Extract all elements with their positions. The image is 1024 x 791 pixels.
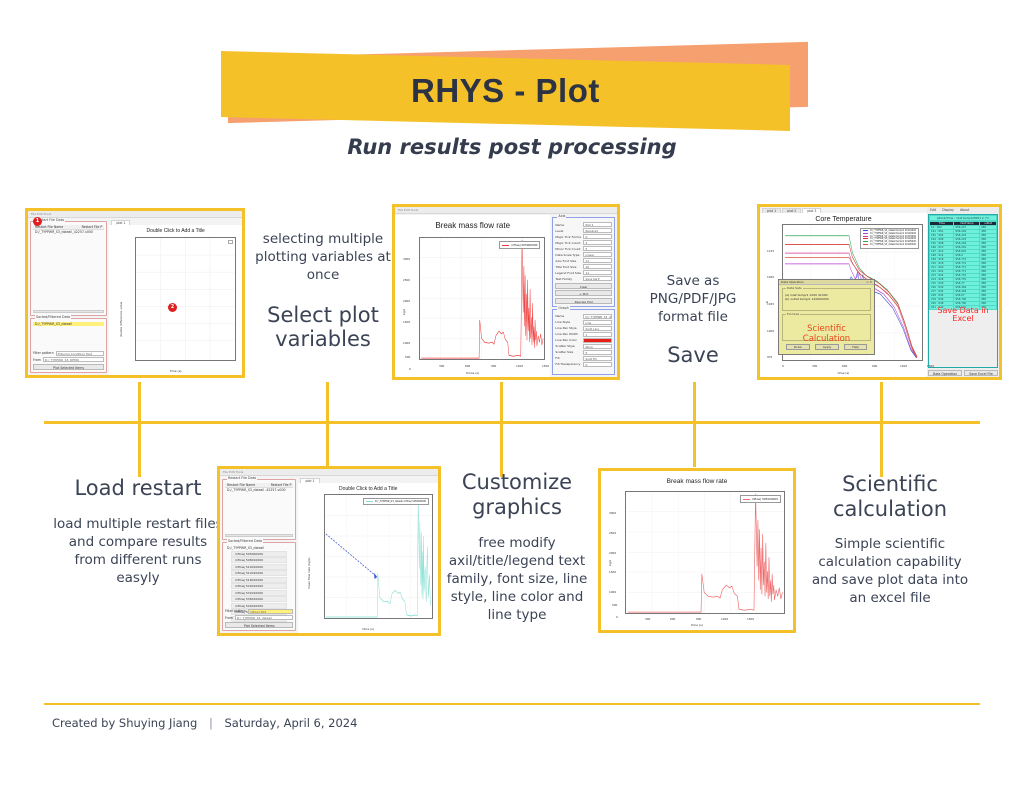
graph-group-label: Graph [557,306,569,310]
setting-row: NameD:/_TYPPWR_S3_dsteall [555,314,612,319]
axis-settings-rows: NamePlot 1LevelRequiredMajor Tick Format… [555,222,612,281]
from-label: From [225,616,233,620]
plot-title[interactable]: Double Click to Add a Title [109,228,242,234]
timeline-axis [44,421,980,424]
setting-label: Text Family [555,277,581,281]
legend-label: D:/_TYPPWR_S3_dsteall temp/1 20106000 [870,243,916,246]
setting-label: Major Tick Count [555,241,581,245]
tab-plot-3[interactable]: plot 3 [802,208,821,213]
setting-value[interactable]: Required [583,228,612,233]
feature-scientific-text: Scientific calculation Simple scientific… [805,472,975,607]
feature-select-vars-body: selecting multiple plotting variables at… [248,230,398,285]
save-data-excel-text: Save Data in Excel [937,306,988,323]
setting-row: Legend Font Size11 [555,270,612,275]
timeline-connector-1 [138,382,141,477]
selected-restart-row[interactable]: D:/_TYPPWR_S3_dsteall [33,322,104,326]
timeline-connector-2 [326,382,329,467]
feature-save-text: Save as PNG/PDF/JPG format file Save [628,272,758,367]
xtick-1500: 1500 [542,364,549,368]
timeline-connector-4 [693,382,696,467]
setting-value[interactable]: 11 [583,270,612,275]
dialog-data-sets-label: Data Sets [786,286,803,290]
axis-settings-group: Axis NamePlot 1LevelRequiredMajor Tick F… [552,217,615,307]
setting-row: Line Pen Width1 [555,332,612,337]
data-table[interactable]: Timeinlet tempoutlet10 : 600956.22798516… [929,221,997,310]
legend-color-swatch [863,236,868,237]
ytick-0: 0 [616,615,618,619]
restart-tree-row[interactable]: D:/_TYPPWR_S3_dsteall -42257-v000 [225,488,293,492]
plot-pane: Break mass flow rate mflowj 505000000 30… [601,471,793,630]
plot-gridlines [136,238,235,360]
plot-tabstrip[interactable]: plot 1 plot 2 plot 3 [760,207,927,213]
ytick-500: 500 [405,355,410,359]
setting-row: LevelRequired [555,228,612,233]
title-banner: RHYS - Plot [221,51,790,131]
restart-tree-pane: Restart File Data Restart File Name Rest… [28,219,109,375]
col-restart-file-path: Restart File P [80,225,105,229]
plot-ylabel: double difference value [119,302,123,337]
filter-pattern-row: Filter pattern mflowj 505 [225,609,293,614]
footer: Created by Shuying Jiang | Saturday, Apr… [52,716,357,730]
scientific-calculation-callout: Scientific Calculation [785,319,868,349]
plot-axes: mflowj 505000000 [625,491,785,614]
feature-select-vars-heading: Select plot variables [248,303,398,353]
xtick-300: 300 [439,364,444,368]
list-item[interactable]: mflowj 532010000 [231,590,287,596]
feature-select-vars-text: selecting multiple plotting variables at… [248,230,398,352]
xtick-900: 900 [696,617,701,621]
ytick-2500: 2500 [403,278,410,282]
feature-scientific-heading: Scientific calculation [805,472,975,522]
setting-value[interactable]: 5 [583,350,612,355]
plot-legend[interactable]: mflowj 505000000 [499,241,540,249]
feature-customize-heading: Customize graphics [437,470,597,520]
step-badge-1: 1 [33,217,42,226]
plot-legend[interactable]: mflowj 505000000 [740,495,781,503]
sorted-filtered-label: Sorted/Filtered Data [35,315,71,319]
menu-edit[interactable]: Edit [930,208,936,212]
window-body: Break mass flow rate mflowj 505000000 [395,215,617,377]
setting-label: Line Pen Style [555,326,581,330]
setting-label: Title Font Size [555,265,581,269]
screenshot-select-plot-variables[interactable]: File Edit Tools Restart File Data Restar… [217,466,441,636]
settings-pane: Axis NamePlot 1LevelRequiredMajor Tick F… [550,215,617,377]
xtick-600: 600 [465,364,470,368]
axis-settings-buttons: Clear+ PlotRescale Plot [555,283,612,304]
feature-load-restart-heading: Load restart [52,476,224,501]
table-menubar[interactable]: Edit Display About [927,207,999,213]
setting-value[interactable]: 1 [583,332,612,337]
ytick-1000: 1000 [767,329,774,333]
screenshot-save[interactable]: Break mass flow rate mflowj 505000000 30… [598,468,796,633]
xtick-600: 600 [670,617,675,621]
window-menubar[interactable]: File Edit Tools [220,469,438,476]
setting-label: Scatter Size [555,350,581,354]
dialog-data-sets-group: Data Sets (a) inlet temp/1 1200 41000 (b… [782,288,871,311]
plot-axes: mflowj 505000000 [419,237,545,360]
setting-value[interactable]: 16 [583,264,612,269]
list-item[interactable]: mflowj 520010000 [231,583,287,589]
feature-save-body: Save as PNG/PDF/JPG format file [628,272,758,327]
dialog-titlebar[interactable]: Data Operation ▫ ✕ [779,280,874,285]
feature-load-restart-body: load multiple restart files and compare … [52,515,224,588]
xtick-0: 0 [782,364,784,368]
ytick-1500: 1500 [609,570,616,574]
setting-value[interactable]: Solid Line [583,326,612,331]
window-body: Restart File Data Restart File Name Rest… [28,219,242,375]
legend-entries: D:/_TYPPWR_S3_dsteall temp/1 20101000D:/… [863,230,916,247]
dialog-formula-group: Formula Scientific Calculation [782,314,871,341]
title-area: RHYS - Plot Run results post processing [0,0,1024,185]
setting-row: Title Font Size16 [555,264,612,269]
plot-xlabel: time (s) [109,369,242,373]
footer-separator: | [209,716,213,730]
feature-save-heading: Save [628,343,758,368]
setting-row: Fill Transparency0 [555,362,612,367]
restart-file-data-group: Restart File Data Restart File Name Rest… [30,221,107,316]
sorted-filtered-data-group: Sorted/Filtered Data D:/_TYPPWR_S3_dstea… [222,542,296,631]
setting-row: Line StyleLine [555,320,612,325]
setting-row: Scatter Size5 [555,350,612,355]
page-title: RHYS - Plot [411,72,600,110]
legend-color-swatch [502,245,509,246]
setting-label: Line Style [555,320,581,324]
restart-hscrollbar[interactable] [225,534,293,537]
data-operation-dialog[interactable]: Data Operation ▫ ✕ Data Sets (a) inlet t… [778,279,875,355]
setting-label: Axis Font Size [555,259,581,263]
restart-hscrollbar[interactable] [33,310,104,313]
ytick-2000: 2000 [609,551,616,555]
legend-color-swatch [743,499,750,500]
setting-row: Major Tick Format0 [555,234,612,239]
legend-label: mflowj 505000000 [511,243,537,247]
setting-value[interactable]: None [583,344,612,349]
legend-color-swatch [863,244,868,245]
col-restart-file-name: Restart File Name [225,483,257,487]
xtick-900: 900 [872,364,877,368]
plot-selected-items-button[interactable]: Plot Selected Items [33,364,104,370]
setting-row: Data Scale TypeLinear [555,252,612,257]
plot-axes: D:/_TYPPWR_S3_dsteall mflowj 505000000 [324,494,433,619]
timeline-connector-3 [500,382,503,477]
plot-pane: plot 1 Double Click to Add a Title D:/_T… [298,477,438,633]
plot-ylabel: mass flow rate (kg/s) [307,557,311,589]
window-body: Restart File Data Restart File Name Rest… [220,477,438,633]
plot-legend[interactable]: D:/_TYPPWR_S3_dsteall temp/1 20101000D:/… [860,228,919,249]
xtick-1200: 1200 [900,364,907,368]
setting-label: Name [555,223,581,227]
list-item[interactable]: mflowj 536010000 [231,596,287,602]
setting-value[interactable] [583,338,612,343]
ytick-975: 975 [767,355,772,359]
ytick-1000: 1000 [609,590,616,594]
setting-value[interactable]: D:/_TYPPWR_S3_dsteall [583,314,612,319]
legend-color-swatch [863,241,868,242]
dialog-formula-label: Formula [786,312,800,316]
setting-label: Minor Tick Count [555,247,581,251]
axis-action-button[interactable]: + Plot [555,290,612,296]
selected-restart-root[interactable]: D:/_TYPPWR_S3_dsteall [225,546,293,550]
step-badge-2: 2 [168,303,177,312]
setting-label: Name [555,314,581,318]
ytick-3000: 3000 [403,257,410,261]
restart-file-data-label: Restart File Data [227,476,257,480]
setting-row: Line Pen StyleSolid Line [555,326,612,331]
col-restart-file-path: Restart File P [269,483,294,487]
plot-ylabel: K [765,301,769,303]
setting-value[interactable]: 5 [583,240,612,245]
xtick-1500: 1500 [747,617,754,621]
footer-divider [44,703,980,705]
footer-date: Saturday, April 6, 2024 [224,716,357,730]
window-menubar[interactable]: File Edit Tools [28,211,242,218]
plot-title[interactable]: Core Temperature [760,216,927,223]
setting-label: Data Scale Type [555,253,581,257]
axis-action-button[interactable]: Rescale Plot [555,298,612,304]
setting-value[interactable]: 0 [583,234,612,239]
ytick-3000: 3000 [609,511,616,515]
dialog-title: Data Operation [781,280,804,284]
plot-pane: plot 1 Double Click to Add a Title doubl… [109,219,242,375]
setting-value[interactable]: Plot 1 [583,222,612,227]
timeline-connector-5 [880,382,883,477]
filter-pattern-row: Filter pattern Filtering Condition Text [33,351,104,356]
list-item[interactable]: mflowj 508010000 [231,557,287,563]
plot-curve-break-mass-flow [420,238,544,359]
feature-customize-text: Customize graphics free modify axil/titl… [437,470,597,625]
plot-xlabel: times (s) [395,371,550,375]
xtick-300: 300 [645,617,650,621]
setting-label: Legend Font Size [555,271,581,275]
feature-load-restart-text: Load restart load multiple restart files… [52,476,224,588]
setting-label: Line Pen Width [555,332,581,336]
setting-value[interactable]: Solid Fill [583,356,612,361]
plot-curve-break-mass-flow [626,492,784,613]
tab-plot-1[interactable]: plot 1 [111,220,130,225]
xtick-1200: 1200 [721,617,728,621]
setting-row: Scatter StyleNone [555,344,612,349]
ytick-1500: 1500 [403,320,410,324]
empty-legend-box [228,240,233,244]
page-subtitle: Run results post processing [0,135,1024,159]
filter-pattern-input[interactable]: mflowj 505 [248,609,294,614]
save-excel-file-button[interactable]: Save Excel File [964,370,998,376]
plot-tabstrip[interactable]: plot 1 [298,477,438,483]
axis-action-button[interactable]: Clear [555,283,612,289]
tab-plot-1[interactable]: plot 1 [300,478,319,483]
plot-axes [135,237,236,361]
axis-group-label: Axis [557,214,566,218]
plot-title[interactable]: Double Click to Add a Title [298,486,438,492]
ytick-2500: 2500 [609,531,616,535]
setting-value[interactable]: 5 [583,246,612,251]
plot-title[interactable]: Break mass flow rate [601,478,793,485]
setting-row: Major Tick Count5 [555,240,612,245]
setting-value[interactable]: Linear [583,252,612,257]
filter-pattern-input[interactable]: Filtering Condition Text [56,351,105,356]
data-table-container[interactable]: pltsub/Time : inlet temp120001 A (°C Tim… [928,214,998,368]
tab-plot-2[interactable]: plot 2 [782,208,801,213]
plot-selected-items-button[interactable]: Plot Selected Items [225,622,293,628]
list-item[interactable]: mflowj 516010000 [231,577,287,583]
table-header-row: Timeinlet tempoutlet [930,222,997,226]
restart-tree-row[interactable]: D:/_TYPPWR_S3_dsteall_42257-v000 [33,230,104,234]
setting-label: Major Tick Format [555,235,581,239]
setting-label: Fill Transparency [555,362,581,366]
screenshot-customize-graphics[interactable]: File Edit Tools Break mass flow rate [392,204,620,380]
xtick-900: 900 [491,364,496,368]
setting-row: Text FamilySans Serif [555,276,612,281]
setting-value[interactable]: 0 [583,362,612,367]
feature-scientific-body: Simple scientific calculation capability… [805,535,975,608]
list-item[interactable]: mflowj 505000000 [231,551,287,557]
selection-arrow [325,495,432,618]
list-item[interactable]: mflowj 512010000 [231,570,287,576]
setting-label: Line Pen Color [555,338,581,342]
setting-row: Minor Tick Count5 [555,246,612,251]
plot-ylabel: kg/s [608,560,612,566]
dialog-data-item-b[interactable]: (b) outlet temp/1 120000000 [785,297,868,301]
legend-entry: D:/_TYPPWR_S3_dsteall temp/1 20106000 [863,244,916,247]
plot-xlabel: time (s) [760,371,927,375]
plot-ylabel: kg/s [402,309,406,315]
graph-settings-group: Graph NameD:/_TYPPWR_S3_dsteallLine Styl… [552,309,615,376]
xtick-300: 300 [812,364,817,368]
filter-pattern-label: Filter pattern [33,351,54,355]
graph-settings-rows: NameD:/_TYPPWR_S3_dsteallLine StyleLineL… [555,314,612,367]
menu-about[interactable]: About [960,208,969,212]
from-label: From [33,358,41,362]
sorted-filtered-data-group: Sorted/Filtered Data D:/_TYPPWR_S3_dstea… [30,318,107,373]
data-operation-button[interactable]: Data Operation [928,370,962,376]
plot-xlabel: time (s) [298,627,438,631]
ytick-1050: 1050 [767,275,774,279]
setting-value[interactable]: 11 [583,258,612,263]
filter-pattern-label: Filter pattern [225,609,246,613]
ytick-1125: 1125 [767,249,774,253]
from-row: From D:/_TYPPWR_S3_DEMO [33,357,104,362]
legend-label: mflowj 505000000 [752,497,778,501]
screenshot-load-restart[interactable]: File Edit Tools Restart File Data Restar… [25,208,245,378]
legend-color-swatch [863,233,868,234]
plot-xlabel: time (s) [601,623,793,627]
sorted-filtered-label: Sorted/Filtered Data [227,539,263,543]
menu-display[interactable]: Display [942,208,954,212]
feature-customize-body: free modify axil/title/legend text famil… [437,534,597,625]
restart-tree-pane: Restart File Data Restart File Name Rest… [220,477,298,633]
setting-label: Level [555,229,581,233]
ytick-500: 500 [612,603,617,607]
dialog-close-icon[interactable]: ▫ ✕ [866,280,872,284]
plot-title[interactable]: Break mass flow rate [395,221,550,230]
window-menubar[interactable]: File Edit Tools [395,207,617,214]
setting-row: Line Pen Color [555,338,612,343]
plot-pane: Break mass flow rate mflowj 505000000 [395,215,550,377]
setting-row: Axis Font Size11 [555,258,612,263]
data-table-pane: Edit Display About pltsub/Time : inlet t… [927,207,999,377]
tab-plot-1[interactable]: plot 1 [762,208,781,213]
table-actions: Data Operation Save Excel File [927,369,999,377]
setting-label: Scatter Style [555,344,581,348]
ytick-1000: 1000 [403,341,410,345]
from-row: From D:/_TYPPWR_S3_dsteall [225,615,293,620]
setting-label: Fill [555,356,581,360]
plot-tabstrip[interactable]: plot 1 [109,219,242,225]
screenshot-scientific-calculation[interactable]: plot 1 plot 2 plot 3 Core Temperature [757,204,1002,380]
legend-color-swatch [863,230,868,231]
setting-row: NamePlot 1 [555,222,612,227]
xtick-1200: 1200 [516,364,523,368]
save-data-excel-callout: Save Data in Excel [929,307,997,324]
setting-value[interactable]: Line [583,320,612,325]
from-select[interactable]: D:/_TYPPWR_S3_DEMO [43,357,104,362]
setting-value[interactable]: Sans Serif [583,276,612,281]
footer-author: Created by Shuying Jiang [52,716,197,730]
list-item[interactable]: mflowj 510010000 [231,564,287,570]
ytick-2000: 2000 [403,299,410,303]
xtick-600: 600 [842,364,847,368]
legend-color-swatch [863,238,868,239]
from-select[interactable]: D:/_TYPPWR_S3_dsteall [235,615,294,620]
restart-file-data-group: Restart File Data Restart File Name Rest… [222,479,296,540]
setting-row: FillSolid Fill [555,356,612,361]
